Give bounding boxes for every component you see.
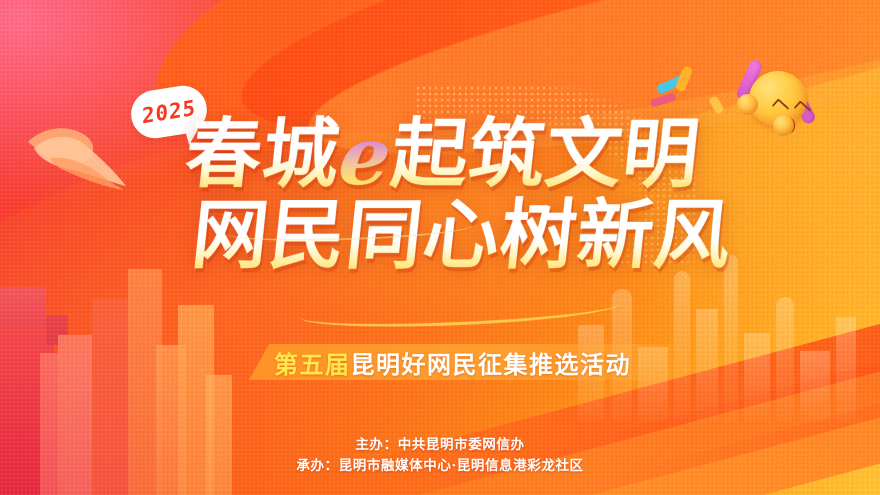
subtitle-rest: 昆明好网民征集推选活动 <box>351 345 632 380</box>
year-badge: 2025 <box>128 82 211 141</box>
emoji-mascot <box>737 57 823 143</box>
subtitle: 第五届昆明好网民征集推选活动 <box>252 345 682 379</box>
emoji-hand-right <box>773 115 794 136</box>
credit-host: 承办：昆明市融媒体中心·昆明信息港彩龙社区 <box>0 456 880 477</box>
year-badge-label: 2025 <box>131 82 207 142</box>
emoji-hand-left <box>737 94 758 115</box>
credit-organizer: 主办：中共昆明市委网信办 <box>0 435 880 456</box>
streamer-decoration <box>24 112 132 198</box>
subtitle-highlight: 第五届 <box>274 345 351 380</box>
emoji-eye-left <box>772 98 790 115</box>
credits-block: 主办：中共昆明市委网信办 承办：昆明市融媒体中心·昆明信息港彩龙社区 <box>0 435 880 477</box>
dot-arc-decoration <box>415 85 695 265</box>
promotional-banner: 2025 春城e起筑文明 网民同心树新风 第五届昆明好网民征集推选活动 主办：中… <box>0 0 880 495</box>
